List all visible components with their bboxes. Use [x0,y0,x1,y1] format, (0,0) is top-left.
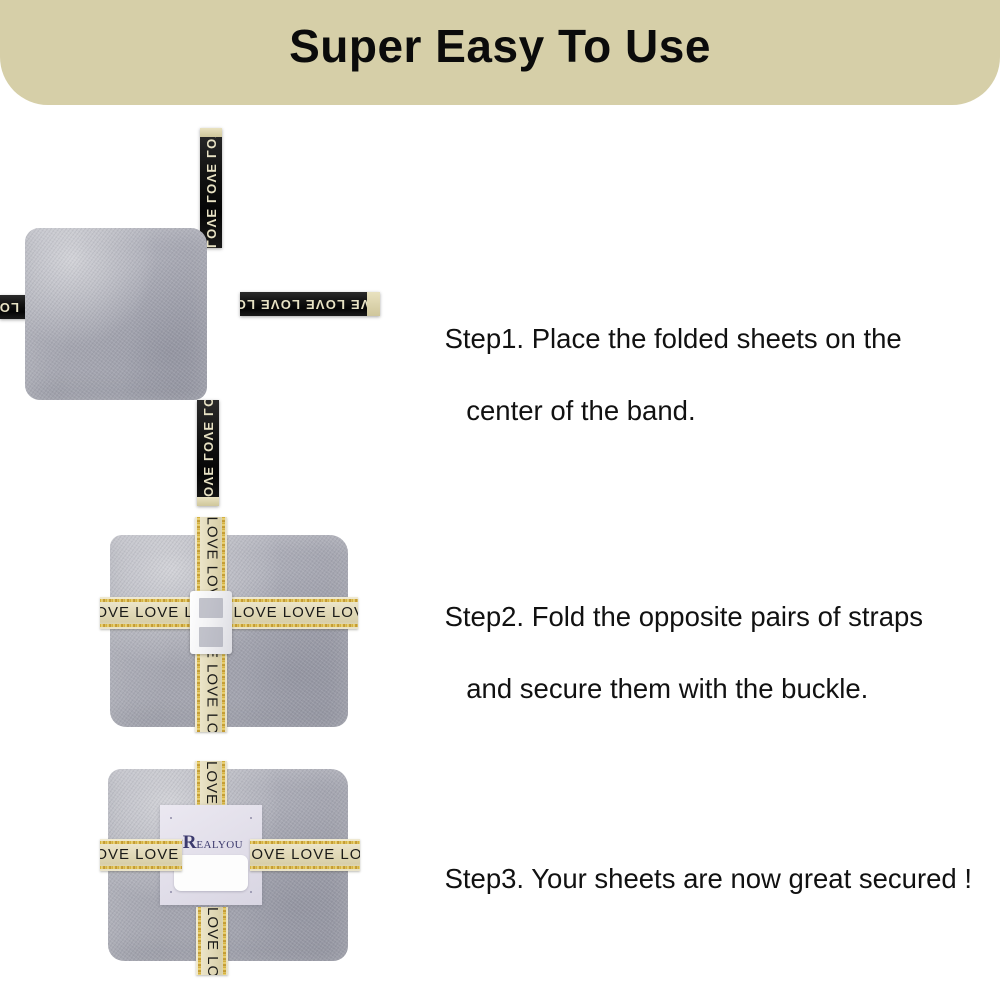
strap-vertical-bottom: LOVE LOVE LOVE LOVE LOVE LOVE LOVE LOVE [196,907,228,975]
strap-buckle [190,591,232,654]
strap-text: LOVE LOVE LOVE LOVE LOVE LOVE LOVE LOVE [100,839,182,871]
brand-white-label [174,855,248,891]
strap-text: LOVE LOVE LOVE LOVE LOVE LOVE LOVE LOVE [196,907,228,975]
buckle-slot [199,627,223,647]
step-3-caption: Step3. Your sheets are now great secured… [414,825,972,933]
step-3-caption-line1: Step3. Your sheets are now great secured… [445,863,972,894]
step-1-caption: Step1. Place the folded sheets on the ce… [414,285,902,501]
strap-vertical-top: LOVE LOVE LOVE LOVE LOVE LOVE LOVE LOVE [200,128,222,248]
folded-sheet-stack [25,228,207,400]
strap-horizontal-left: LOVE LOVE LOVE LOVE LOVE LOVE LOVE LOVE [100,839,182,871]
step-2-caption-line1: Step2. Fold the opposite pairs of straps [445,601,923,632]
strap-tip-top [200,128,222,137]
step-2-caption: Step2. Fold the opposite pairs of straps… [414,563,923,779]
card-dot [250,817,252,819]
strap-horizontal-right: LOVE LOVE LOVE LOVE LOVE LOVE LOVE LOVE [240,292,380,316]
strap-text: LOVE LOVE LOVE LOVE LOVE LOVE LOVE LOVE [200,128,222,248]
step-3-figure: LOVE LOVE LOVE LOVE LOVE LOVE LOVE LOVE … [0,755,400,985]
step-2-row: LOVE LOVE LOVE LOVE LOVE LOVE LOVE LOVE … [0,515,1000,745]
step-2-figure: LOVE LOVE LOVE LOVE LOVE LOVE LOVE LOVE … [0,515,400,745]
brand-logo-r: R [183,832,197,853]
strap-text: LOVE LOVE LOVE LOVE LOVE LOVE LOVE LOVE [250,839,360,871]
card-dot [170,817,172,819]
strap-tip-right [367,292,380,316]
strap-tip-bottom [197,497,219,506]
buckle-slot [199,598,223,618]
step-3-row: LOVE LOVE LOVE LOVE LOVE LOVE LOVE LOVE … [0,755,1000,985]
step-1-row: LOVE LOVE LOVE LOVE LOVE LOVE LOVE LOVE … [0,120,1000,520]
strap-horizontal-right: LOVE LOVE LOVE LOVE LOVE LOVE LOVE LOVE [250,839,360,871]
strap-text: LOVE LOVE LOVE LOVE LOVE LOVE LOVE LOVE [240,292,380,316]
header-banner: Super Easy To Use [0,0,1000,105]
card-dot [250,891,252,893]
brand-logo-rest: EALYOU [196,839,243,851]
strap-text: LOVE LOVE LOVE LOVE LOVE LOVE LOVE LOVE [197,400,219,506]
step-1-caption-line1: Step1. Place the folded sheets on the [445,323,902,354]
step-1-caption-line2: center of the band. [414,393,902,429]
page-title: Super Easy To Use [0,0,1000,92]
step-1-figure: LOVE LOVE LOVE LOVE LOVE LOVE LOVE LOVE … [0,120,400,520]
card-dot [170,891,172,893]
step-2-caption-line2: and secure them with the buckle. [414,671,923,707]
strap-vertical-bottom: LOVE LOVE LOVE LOVE LOVE LOVE LOVE LOVE [197,400,219,506]
